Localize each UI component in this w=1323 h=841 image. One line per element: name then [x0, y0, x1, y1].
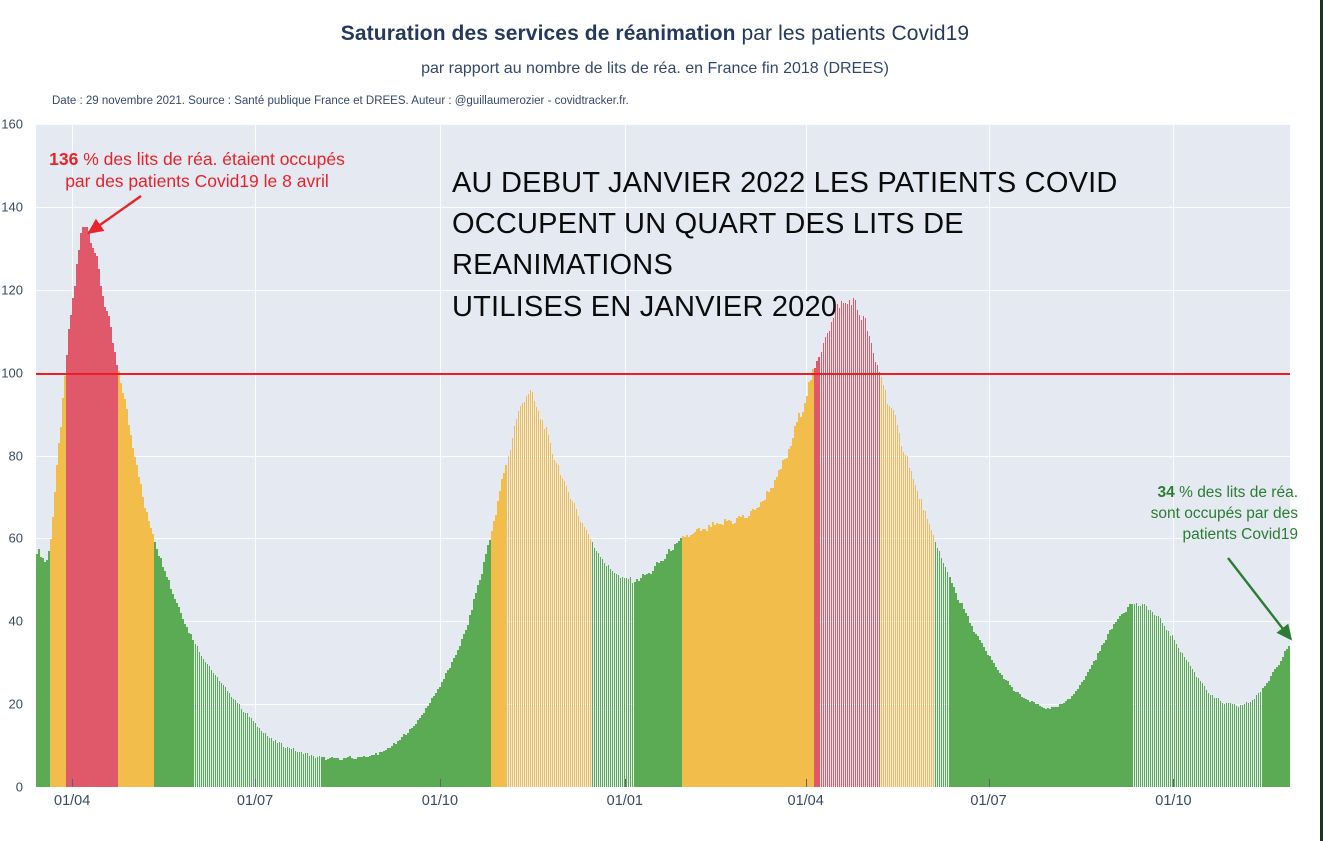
y-axis-tick-100: 100 — [0, 365, 23, 380]
x-axis-tick-0: 01/04 — [54, 793, 90, 809]
x-axis-tick-4: 01/04 — [788, 793, 824, 809]
chart-figure: Saturation des services de réanimation p… — [0, 0, 1320, 841]
y-axis-tick-60: 60 — [0, 531, 23, 546]
x-axis-tick-mark-6 — [1173, 779, 1174, 787]
x-axis-tick-2: 01/10 — [422, 793, 458, 809]
title-rest: par les patients Covid19 — [736, 22, 970, 45]
y-axis-tick-0: 0 — [0, 780, 23, 795]
x-axis-tick-mark-0 — [72, 779, 73, 787]
y-axis-tick-80: 80 — [0, 448, 23, 463]
x-axis-tick-mark-1 — [255, 779, 256, 787]
y-axis-tick-160: 160 — [0, 117, 23, 132]
annotation-red-value: 136 — [49, 149, 78, 169]
x-axis-tick-mark-5 — [989, 779, 990, 787]
annotation-first-wave: 136 % des lits de réa. étaient occupés p… — [12, 148, 382, 193]
x-axis-tick-1: 01/07 — [237, 793, 273, 809]
y-axis-tick-20: 20 — [0, 697, 23, 712]
x-axis-tick-mark-3 — [625, 779, 626, 787]
page-title: Saturation des services de réanimation p… — [0, 22, 1310, 46]
threshold-line-100 — [36, 373, 1290, 375]
x-axis-tick-3: 01/01 — [607, 793, 643, 809]
annotation-green-value: 34 — [1158, 484, 1175, 501]
y-axis-tick-140: 140 — [0, 199, 23, 214]
page-subtitle: par rapport au nombre de lits de réa. en… — [0, 60, 1310, 78]
annotation-latest-value: 34 % des lits de réa. sont occupés par d… — [1120, 483, 1298, 546]
annotation-red-line1: % des lits de réa. étaient occupés — [78, 149, 345, 169]
bar — [1288, 646, 1290, 787]
y-axis-tick-40: 40 — [0, 614, 23, 629]
x-axis-tick-5: 01/07 — [970, 793, 1006, 809]
annotation-green-line3: patients Covid19 — [1183, 526, 1298, 543]
annotation-red-line2: par des patients Covid19 le 8 avril — [12, 170, 382, 192]
x-axis-tick-6: 01/10 — [1155, 793, 1191, 809]
title-bold: Saturation des services de réanimation — [341, 22, 736, 45]
source-caption: Date : 29 novembre 2021. Source : Santé … — [52, 95, 629, 107]
overlay-note: AU DEBUT JANVIER 2022 LES PATIENTS COVID… — [452, 163, 1152, 328]
annotation-green-line2: sont occupés par des — [1151, 505, 1298, 522]
x-axis-tick-mark-2 — [440, 779, 441, 787]
y-axis-tick-120: 120 — [0, 282, 23, 297]
x-axis-tick-mark-4 — [806, 779, 807, 787]
annotation-green-line1: % des lits de réa. — [1175, 484, 1298, 501]
